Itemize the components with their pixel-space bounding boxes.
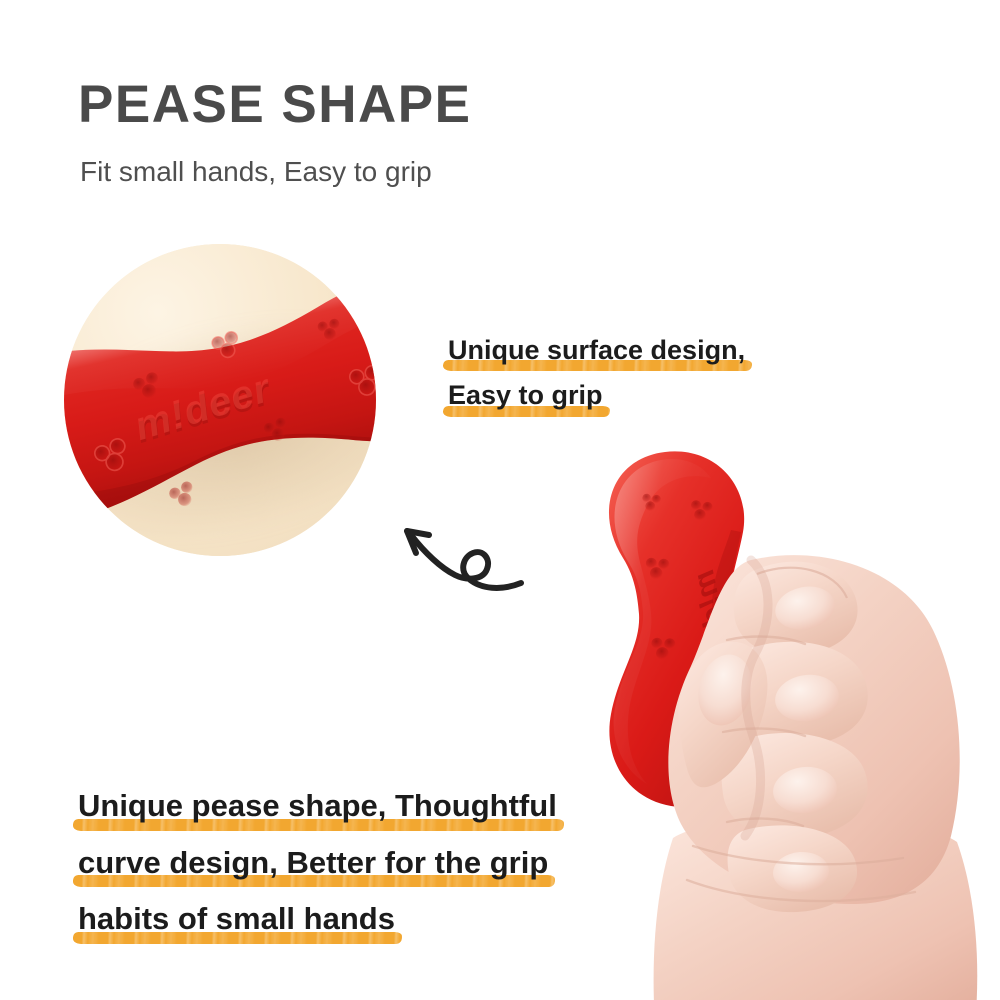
annotation-text: Unique pease shape, Thoughtful (78, 788, 557, 823)
highlight-marker: Unique pease shape, Thoughtful (78, 790, 557, 823)
annotation-text: Easy to grip (448, 380, 603, 410)
highlight-marker: curve design, Better for the grip (78, 847, 548, 880)
product-feature-graphic: PEASE SHAPE Fit small hands, Easy to gri… (0, 0, 1000, 1000)
annotation-text: curve design, Better for the grip (78, 845, 548, 880)
annotation-surface-design: Unique surface design, Easy to grip (448, 336, 828, 410)
annotation-line: Easy to grip (448, 381, 828, 409)
annotation-text: habits of small hands (78, 901, 395, 936)
highlight-marker: Unique surface design, (448, 336, 745, 364)
highlight-marker: habits of small hands (78, 903, 395, 936)
annotation-line: Unique pease shape, Thoughtful (78, 790, 678, 823)
annotation-line: curve design, Better for the grip (78, 847, 678, 880)
annotation-pease-shape: Unique pease shape, Thoughtful curve des… (78, 790, 678, 936)
closeup-circle-image: m!deer m!deer (64, 244, 376, 556)
highlight-marker: Easy to grip (448, 381, 603, 409)
curly-arrow-icon (385, 495, 525, 600)
annotation-line: Unique surface design, (448, 336, 828, 364)
annotation-text: Unique surface design, (448, 335, 745, 365)
annotation-line: habits of small hands (78, 903, 678, 936)
page-title: PEASE SHAPE (78, 78, 472, 131)
page-subtitle: Fit small hands, Easy to grip (80, 155, 432, 189)
